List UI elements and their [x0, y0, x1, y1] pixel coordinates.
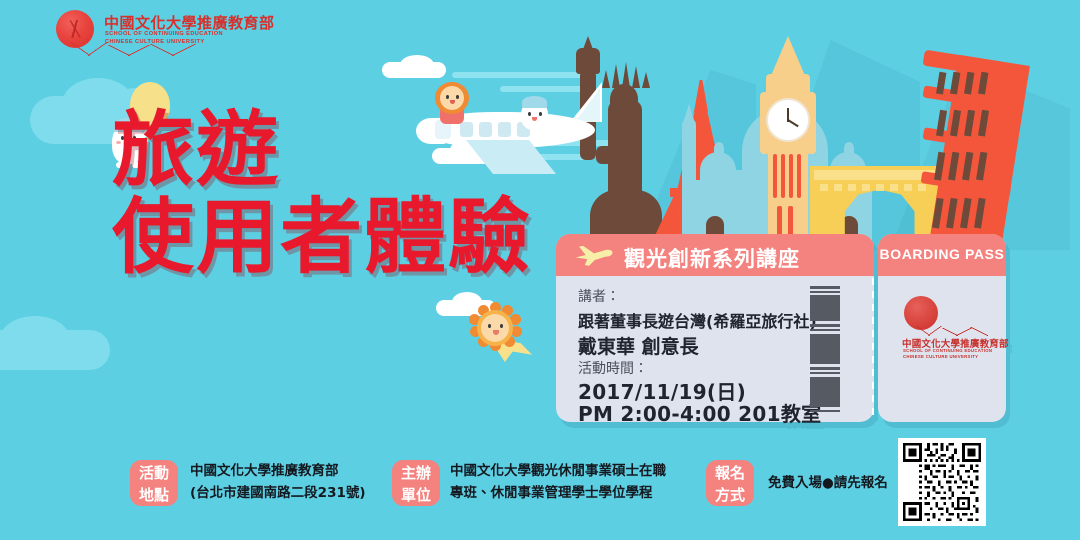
stub-logo-name-en-line2: CHINESE CULTURE UNIVERSITY	[903, 354, 978, 359]
registration-pill: 報名 方式	[706, 460, 754, 506]
organizer-pill: 主辦 單位	[392, 460, 440, 506]
page-title: 旅遊 使用者體驗	[112, 112, 582, 277]
speaker-organization: 跟著董事長遊台灣(希羅亞旅行社)	[578, 308, 817, 332]
organizer-text-line1: 中國文化大學觀光休閒事業碩士在職	[450, 462, 666, 480]
qr-code-image	[903, 443, 981, 521]
venue-text-line2: (台北市建國南路二段231號)	[190, 484, 366, 502]
cloud-decor	[400, 55, 434, 75]
university-logo: 中國文化大學推廣教育部 SCHOOL OF CONTINUING EDUCATI…	[48, 6, 218, 58]
logo-name-cn: 中國文化大學推廣教育部	[104, 12, 275, 33]
ticket-perforation	[872, 278, 874, 418]
logo-name-en-line2: CHINESE CULTURE UNIVERSITY	[105, 39, 205, 45]
qr-code[interactable]	[898, 438, 986, 526]
registration-text: 免費入場●請先報名	[768, 474, 888, 492]
venue-pill-line2: 地點	[130, 484, 178, 506]
stub-logo-name-en-line1: SCHOOL OF CONTINUING EDUCATION	[903, 348, 992, 353]
boarding-pass-label: BOARDING PASS	[878, 246, 1006, 262]
organizer-text-line2: 專班、休閒事業管理學士學位學程	[450, 484, 653, 502]
stub-logo-sun-icon	[904, 296, 938, 330]
registration-pill-line1: 報名	[706, 462, 754, 484]
venue-pill-line1: 活動	[130, 462, 178, 484]
stub-logo-mountain-icon	[916, 326, 988, 336]
ticket-series-title: 觀光創新系列講座	[624, 243, 800, 273]
speaker-label: 講者：	[578, 286, 620, 306]
organizer-pill-line1: 主辦	[392, 462, 440, 484]
registration-pill-line2: 方式	[706, 484, 754, 506]
venue-pill: 活動 地點	[130, 460, 178, 506]
sun-character-decor	[468, 302, 524, 354]
boarding-pass-ticket[interactable]: 觀光創新系列講座 BOARDING PASS 講者： 跟著董事長遊台灣(希羅亞旅…	[556, 234, 1006, 422]
organizer-pill-line2: 單位	[392, 484, 440, 506]
leaning-tower-of-pisa-landmark	[910, 52, 1020, 250]
venue-text-line1: 中國文化大學推廣教育部	[190, 462, 339, 480]
speaker-name: 戴東華 創意長	[578, 332, 699, 359]
headline-line-1: 旅遊	[112, 112, 582, 191]
logo-name-en-line1: SCHOOL OF CONTINUING EDUCATION	[105, 31, 223, 37]
stub-university-logo: 中國文化大學推廣教育部 SCHOOL OF CONTINUING EDUCATI…	[900, 296, 990, 362]
poster-canvas: 中國文化大學推廣教育部 SCHOOL OF CONTINUING EDUCATI…	[0, 0, 1080, 540]
headline-line-2: 使用者體驗	[112, 199, 582, 278]
event-time-label: 活動時間：	[578, 358, 648, 378]
cloud-decor	[0, 316, 70, 362]
airplane-icon	[574, 243, 614, 267]
event-time-room: PM 2:00-4:00 201教室	[578, 398, 821, 427]
barcode	[810, 286, 840, 414]
